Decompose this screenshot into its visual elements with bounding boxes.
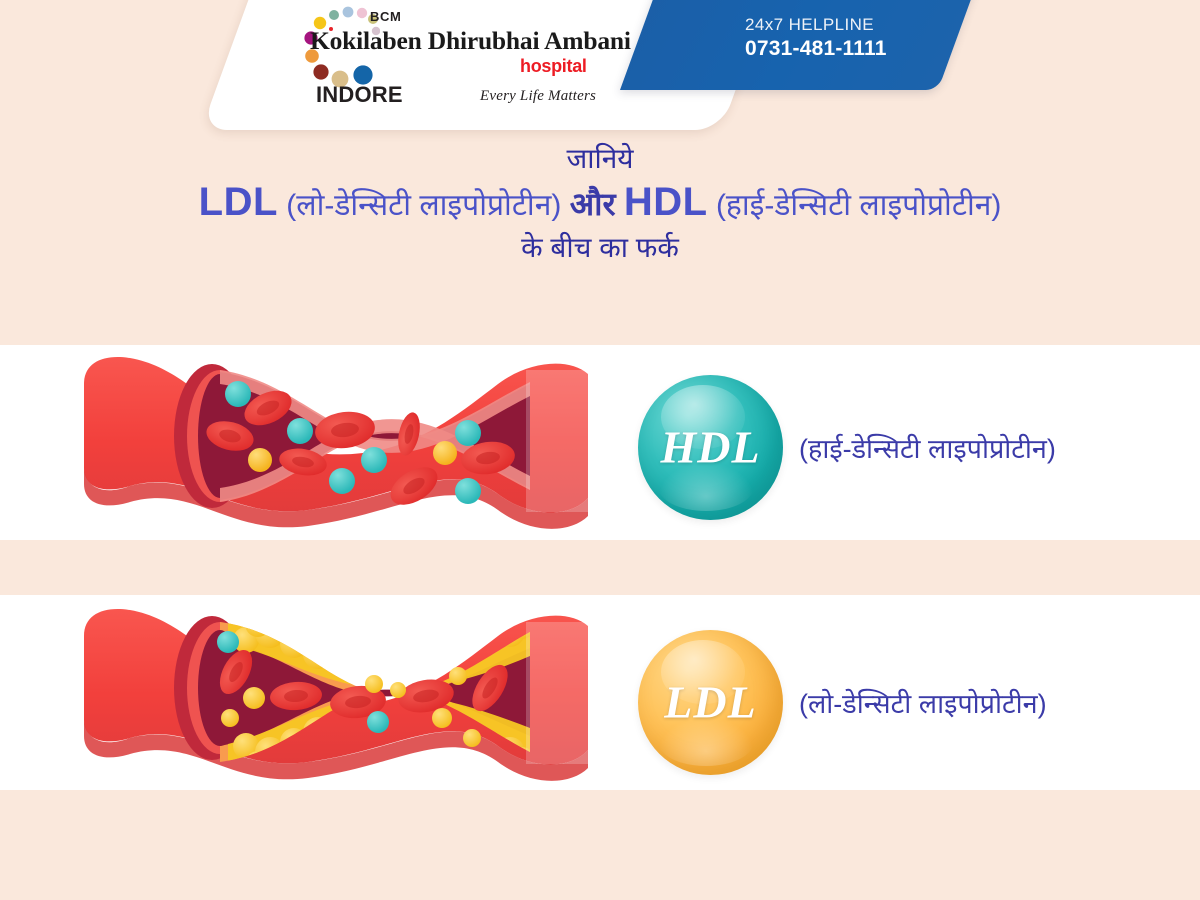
ldl-caption: (लो-डेन्सिटी लाइपोप्रोटीन) [799,684,1047,721]
background-band-peach-middle [0,540,1200,595]
helpline-label: 24x7 HELPLINE [745,14,887,36]
ldl-sphere-label: LDL [664,675,756,728]
hdl-legend-row: HDL (हाई-डेन्सिटी लाइपोप्रोटीन) [638,375,1056,520]
ldl-sphere: LDL [638,630,783,775]
helpline-text-group: 24x7 HELPLINE 0731-481-1111 [745,14,887,63]
logo-bcm-text: BCM [370,9,401,24]
title-conjunction: और [570,186,616,222]
logo-brand-name: Kokilaben Dhirubhai Ambani [310,26,631,56]
title-line-3: के बीच का फर्क [0,231,1200,265]
ldl-legend-row: LDL (लो-डेन्सिटी लाइपोप्रोटीन) [638,630,1047,775]
logo-tagline: Every Life Matters [480,88,596,105]
logo-hospital-word: hospital [520,56,587,77]
logo-city: INDORE [316,82,403,108]
hdl-sphere: HDL [638,375,783,520]
hdl-caption: (हाई-डेन्सिटी लाइपोप्रोटीन) [799,429,1056,466]
clogged-artery-illustration [78,600,598,790]
title-line-1: जानिये [0,142,1200,176]
title-line-2: LDL (लो-डेन्सिटी लाइपोप्रोटीन) और HDL (ह… [0,178,1200,227]
hdl-sphere-label: HDL [660,420,760,473]
artery-glass-highlight [526,622,588,764]
title-hdl-abbr: HDL [624,180,708,224]
artery-glass-highlight [526,370,588,512]
title-hdl-expansion: (हाई-डेन्सिटी लाइपोप्रोटीन) [716,189,1001,222]
helpline-number[interactable]: 0731-481-1111 [745,36,887,63]
infographic-canvas: 24x7 HELPLINE 0731-481-1111 [0,0,1200,900]
background-band-peach-bottom [0,790,1200,900]
title-ldl-abbr: LDL [199,180,278,224]
page-title: जानिये LDL (लो-डेन्सिटी लाइपोप्रोटीन) और… [0,142,1200,265]
healthy-artery-illustration [78,348,598,538]
hospital-logo[interactable]: BCM Kokilaben Dhirubhai Ambani hospital … [284,4,644,116]
title-ldl-expansion: (लो-डेन्सिटी लाइपोप्रोटीन) [286,189,561,222]
header: 24x7 HELPLINE 0731-481-1111 [0,0,1200,132]
